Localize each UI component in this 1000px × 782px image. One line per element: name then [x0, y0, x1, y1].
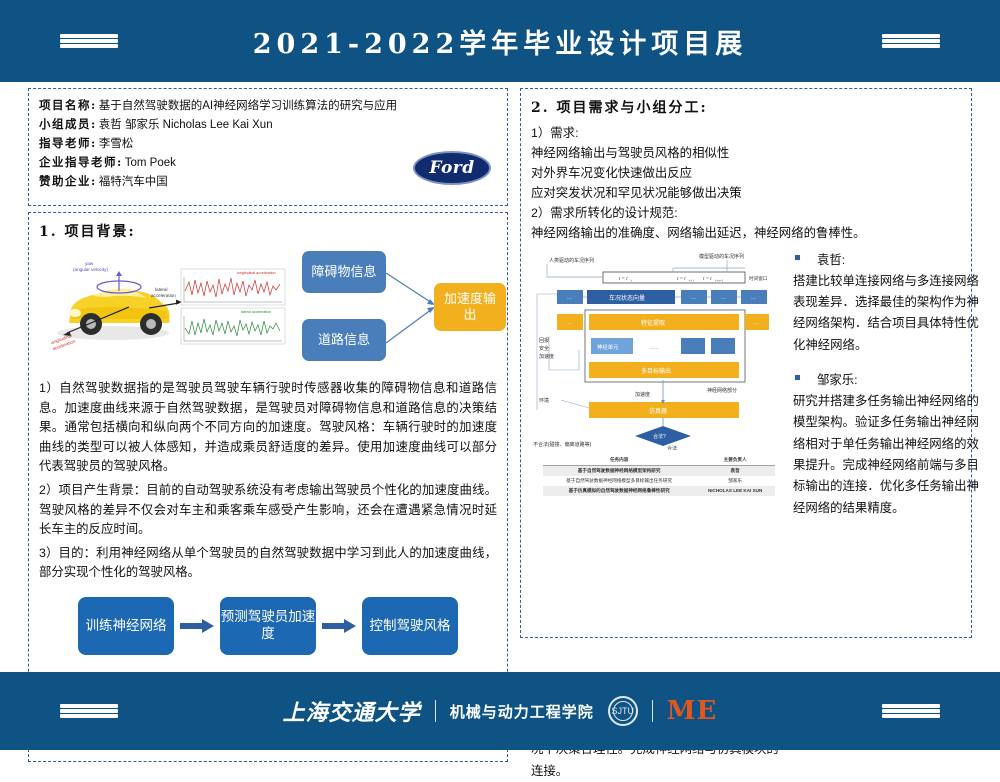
table-cell-task: 基于自然驾驶数据神经网络模型多目标输出任务研究 — [543, 476, 695, 486]
step-predict-acceleration: 预测驾驶员加速度 — [220, 597, 316, 655]
flow-output-acceleration: 加速度输出 — [434, 283, 506, 331]
svg-text:i+w-1: i+w-1 — [715, 278, 724, 282]
arch-block-multi-output: 多目标输出 — [641, 367, 671, 375]
step-train-network: 训练神经网络 — [78, 597, 174, 655]
member-name-text: 袁哲: — [817, 253, 845, 267]
bullet-icon — [795, 375, 800, 380]
info-label-project-name: 项目名称: — [39, 97, 97, 113]
header-banner: 2021-2022学年毕业设计项目展 — [0, 0, 1000, 82]
divider — [652, 700, 653, 722]
svg-text:i+1: i+1 — [689, 278, 694, 282]
info-label-advisor: 指导老师: — [39, 135, 97, 151]
member-text-zoujiale: 研究并搭建多任务输出神经网络的模型架构。验证多任务输出神经网络相对于单任务输出神… — [793, 391, 983, 519]
divider — [435, 700, 436, 722]
background-figure: yaw (angular velocity) lateral accelerat… — [39, 247, 497, 375]
bullet-icon — [795, 255, 800, 260]
info-value-advisor: 李雪松 — [99, 135, 134, 151]
table-header-owner: 主要负责人 — [695, 455, 775, 466]
table-cell-owner: 邹家乐 — [695, 476, 775, 486]
footer-decoration-left — [60, 704, 118, 718]
info-row: 指导老师: 李雪松 — [39, 135, 497, 151]
needs-line-4: 应对突发状况和罕见状况能够做出决策 — [531, 183, 961, 203]
needs-line-3: 对外界车况变化快速做出反应 — [531, 163, 961, 183]
header-decoration-right — [882, 34, 940, 48]
footer-logo-lockup: 上海交通大学 机械与动力工程学院 SJTU ME — [283, 695, 718, 727]
university-name: 上海交通大学 — [283, 695, 421, 727]
member-name-yuanzhe: 袁哲: — [793, 250, 983, 268]
member-name-zoujiale: 邹家乐: — [793, 370, 983, 388]
step-arrow-2-icon — [322, 619, 356, 632]
arch-block-neuron: 神经单元 — [597, 343, 619, 351]
footer-banner: 上海交通大学 机械与动力工程学院 SJTU ME — [0, 672, 1000, 750]
svg-text:longitudinal acceleration: longitudinal acceleration — [237, 271, 276, 275]
background-flow-diagram: 障碍物信息 道路信息 加速度输出 — [294, 247, 509, 367]
member-name-text: 邹家乐: — [817, 373, 858, 387]
member-text-yuanzhe: 搭建比较单连接网络与多连接网络表现差异．选择最佳的架构作为神经网络架构．结合项目… — [793, 271, 983, 356]
info-row: 小组成员: 袁哲 邹家乐 Nicholas Lee Kai Xun — [39, 116, 497, 132]
info-value-sponsor: 福特汽车中国 — [99, 173, 168, 189]
table-row: 基于自然驾驶数据神经网络模型多目标输出任务研究 邹家乐 — [543, 476, 775, 486]
architecture-and-members: 人类驱动的车况序列 模型驱动的车况序列 时间窗口 t = t i t = t i… — [531, 250, 961, 550]
background-paragraph-3: 3）目的：利用神经网络从单个驾驶员的自然驾驶数据中学习到此人的加速度曲线，部分实… — [39, 544, 497, 583]
svg-text:yaw: yaw — [85, 261, 94, 266]
section-title-background: 1. 项目背景: — [39, 221, 497, 241]
arch-label-safety: 安全 — [539, 345, 549, 352]
needs-line-2: 神经网络输出与驾驶员风格的相似性 — [531, 143, 961, 163]
arch-dots: …… — [649, 345, 659, 351]
arch-label-human: 人类驱动的车况序列 — [549, 257, 594, 264]
svg-text:i: i — [631, 278, 632, 282]
svg-text:(angular velocity): (angular velocity) — [73, 267, 108, 272]
arch-label-accel-mid: 加速度 — [635, 391, 650, 398]
project-info-panel: 项目名称: 基于自然驾驶数据的AI神经网络学习训练算法的研究与应用 小组成员: … — [28, 88, 508, 206]
svg-text:acceleration: acceleration — [151, 293, 176, 298]
svg-text:…: … — [567, 295, 572, 301]
arch-block-simulator: 仿真器 — [649, 407, 667, 415]
me-logo-text: ME — [667, 696, 718, 726]
background-paragraph-1: 1）自然驾驶数据指的是驾驶员驾驶车辆行驶时传感器收集的障碍物信息和道路信息。加速… — [39, 379, 497, 477]
table-cell-owner: 袁哲 — [695, 465, 775, 476]
info-label-company-advisor: 企业指导老师: — [39, 154, 123, 170]
footer-decoration-right — [882, 704, 940, 718]
info-label-sponsor: 赞助企业: — [39, 173, 97, 189]
arch-decision-yes: 合法 — [667, 445, 677, 450]
needs-line-5: 2）需求所转化的设计规范: — [531, 203, 961, 223]
network-architecture-diagram: 人类驱动的车况序列 模型驱动的车况序列 时间窗口 t = t i t = t i… — [531, 250, 781, 450]
arch-label-env: 环境 — [539, 397, 549, 404]
project-needs-panel: 2. 项目需求与小组分工: 1）需求: 神经网络输出与驾驶员风格的相似性 对外界… — [520, 88, 972, 638]
department-name: 机械与动力工程学院 — [450, 701, 594, 722]
arch-label-accel-side: 加速度 — [539, 353, 554, 360]
arch-label-reward: 回报 — [539, 337, 549, 344]
section-title-needs: 2. 项目需求与小组分工: — [531, 97, 961, 117]
svg-text:…: … — [754, 320, 759, 326]
left-column: 项目名称: 基于自然驾驶数据的AI神经网络学习训练算法的研究与应用 小组成员: … — [28, 88, 508, 762]
flow-input-obstacle: 障碍物信息 — [302, 251, 386, 293]
arch-decision-no: 不合法(碰撞、偏离道路等) — [533, 441, 592, 448]
arch-block-feature: 特征提取 — [641, 319, 665, 327]
svg-text:lateral acceleration: lateral acceleration — [241, 310, 271, 314]
seal-text: SJTU — [611, 706, 634, 716]
info-value-project-name: 基于自然驾驶数据的AI神经网络学习训练算法的研究与应用 — [99, 97, 397, 113]
member-block-zoujiale: 邹家乐: 研究并搭建多任务输出神经网络的模型架构。验证多任务输出神经网络相对于单… — [793, 370, 983, 519]
info-value-company-advisor: Tom Poek — [125, 157, 176, 169]
table-header-task: 任务内容 — [543, 455, 695, 466]
table-cell-owner: NICHOLAS LEE KAI XUN — [695, 486, 775, 496]
table-row: 基于自然驾驶数据神经网络模型架构研究 袁哲 — [543, 465, 775, 476]
svg-text:…: … — [751, 295, 756, 301]
task-assignment-table: 任务内容 主要负责人 基于自然驾驶数据神经网络模型架构研究 袁哲 基于自然驾驶数… — [543, 455, 775, 496]
arch-block-state: 车况状态向量 — [609, 294, 645, 302]
info-value-members: 袁哲 邹家乐 Nicholas Lee Kai Xun — [99, 116, 273, 132]
member-responsibility-list: 袁哲: 搭建比较单连接网络与多连接网络表现差异．选择最佳的架构作为神经网络架构．… — [793, 250, 983, 533]
arch-label-window: 时间窗口 — [749, 275, 768, 282]
flow-input-road: 道路信息 — [302, 319, 386, 361]
step-control-style: 控制驾驶风格 — [362, 597, 458, 655]
table-cell-task: 基于仿真模拟的自然驾驶数据神经网络鲁棒性研究 — [543, 486, 695, 496]
info-label-members: 小组成员: — [39, 116, 97, 132]
step-arrow-1-icon — [180, 619, 214, 632]
ford-logo-icon: Ford — [413, 151, 491, 185]
header-decoration-left — [60, 34, 118, 48]
svg-text:…: … — [721, 295, 726, 301]
page-title: 2021-2022学年毕业设计项目展 — [253, 22, 748, 61]
car-acceleration-diagram-icon: yaw (angular velocity) lateral accelerat… — [51, 251, 286, 356]
svg-text:t = t: t = t — [619, 277, 628, 282]
svg-text:t = t: t = t — [677, 277, 686, 282]
svg-text:…: … — [567, 320, 572, 326]
svg-text:t = t: t = t — [703, 277, 712, 282]
needs-line-6: 神经网络输出的准确度、网络输出延迟，神经网络的鲁棒性。 — [531, 223, 961, 243]
ford-logo-text: Ford — [429, 158, 474, 178]
table-row: 基于仿真模拟的自然驾驶数据神经网络鲁棒性研究 NICHOLAS LEE KAI … — [543, 486, 775, 496]
member-block-yuanzhe: 袁哲: 搭建比较单连接网络与多连接网络表现差异．选择最佳的架构作为神经网络架构．… — [793, 250, 983, 356]
arch-decision: 合法? — [653, 433, 666, 440]
arch-label-nn-part: 神经网络部分 — [707, 387, 737, 394]
info-row: 项目名称: 基于自然驾驶数据的AI神经网络学习训练算法的研究与应用 — [39, 97, 497, 113]
right-column: 2. 项目需求与小组分工: 1）需求: 神经网络输出与驾驶员风格的相似性 对外界… — [520, 88, 972, 638]
svg-text:…: … — [691, 295, 696, 301]
table-cell-task: 基于自然驾驶数据神经网络模型架构研究 — [543, 465, 695, 476]
university-seal-icon: SJTU — [608, 696, 638, 726]
svg-text:lateral: lateral — [155, 287, 168, 292]
needs-line-1: 1）需求: — [531, 123, 961, 143]
process-steps: 训练神经网络 预测驾驶员加速度 控制驾驶风格 — [39, 597, 497, 655]
table-header-row: 任务内容 主要负责人 — [543, 455, 775, 466]
arch-label-model: 模型驱动的车况序列 — [699, 253, 744, 260]
background-paragraph-2: 2）项目产生背景：目前的自动驾驶系统没有考虑输出驾驶员个性化的加速度曲线。驾驶风… — [39, 481, 497, 540]
